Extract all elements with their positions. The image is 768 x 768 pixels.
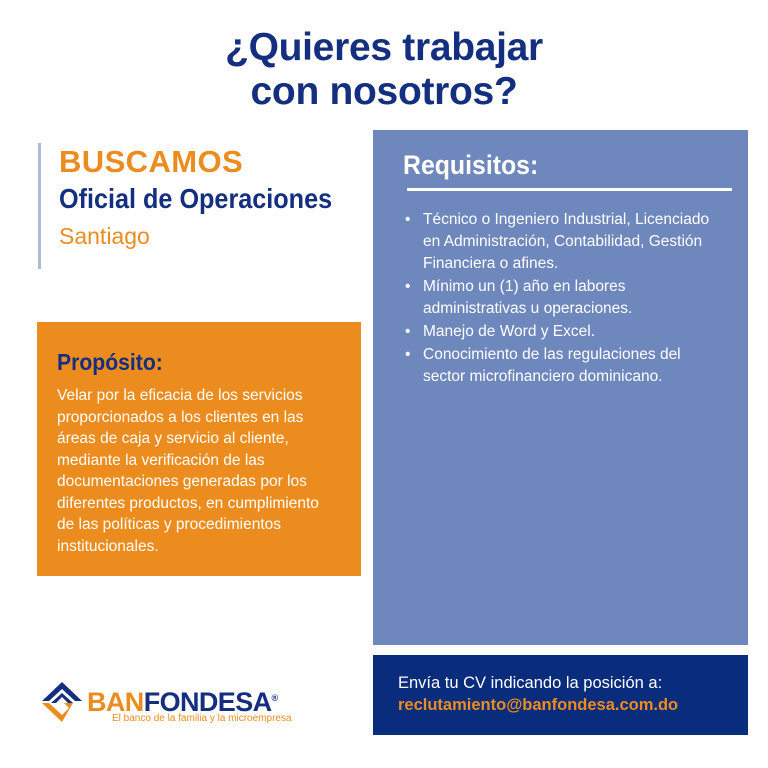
cv-contact-panel: Envía tu CV indicando la posición a: rec… bbox=[373, 655, 748, 735]
list-item: Manejo de Word y Excel. bbox=[403, 321, 726, 343]
registered-mark: ® bbox=[272, 693, 278, 703]
cv-instruction-text: Envía tu CV indicando la posición a: bbox=[398, 672, 748, 694]
cv-email-address[interactable]: reclutamiento@banfondesa.com.do bbox=[398, 694, 748, 716]
seeking-eyebrow: BUSCAMOS bbox=[59, 143, 368, 181]
banfondesa-logo: BANFONDESA® El banco de la familia y la … bbox=[40, 678, 290, 728]
list-item: Conocimiento de las regulaciones del sec… bbox=[403, 344, 726, 388]
requirements-panel: Requisitos: Técnico o Ingeniero Industri… bbox=[373, 130, 748, 645]
requirements-underline bbox=[407, 188, 732, 191]
page-title-line-1: ¿Quieres trabajar bbox=[0, 26, 768, 70]
job-posting-poster: ¿Quieres trabajar con nosotros? BUSCAMOS… bbox=[0, 0, 768, 768]
purpose-heading: Propósito: bbox=[57, 348, 315, 376]
list-item: Técnico o Ingeniero Industrial, Licencia… bbox=[403, 209, 726, 275]
page-title: ¿Quieres trabajar con nosotros? bbox=[0, 26, 768, 114]
logo-tagline: El banco de la familia y la microempresa bbox=[112, 712, 292, 725]
seeking-block: BUSCAMOS Oficial de Operaciones Santiago bbox=[38, 143, 368, 269]
list-item: Mínimo un (1) año en labores administrat… bbox=[403, 276, 726, 320]
page-title-line-2: con nosotros? bbox=[0, 70, 768, 114]
purpose-panel: Propósito: Velar por la eficacia de los … bbox=[37, 322, 361, 576]
job-position-title: Oficial de Operaciones bbox=[59, 181, 337, 217]
banfondesa-diamond-icon bbox=[40, 680, 84, 724]
job-location: Santiago bbox=[59, 219, 368, 253]
requirements-heading: Requisitos: bbox=[403, 148, 700, 182]
requirements-list: Técnico o Ingeniero Industrial, Licencia… bbox=[403, 209, 726, 388]
purpose-body-text: Velar por la eficacia de los servicios p… bbox=[57, 385, 337, 557]
